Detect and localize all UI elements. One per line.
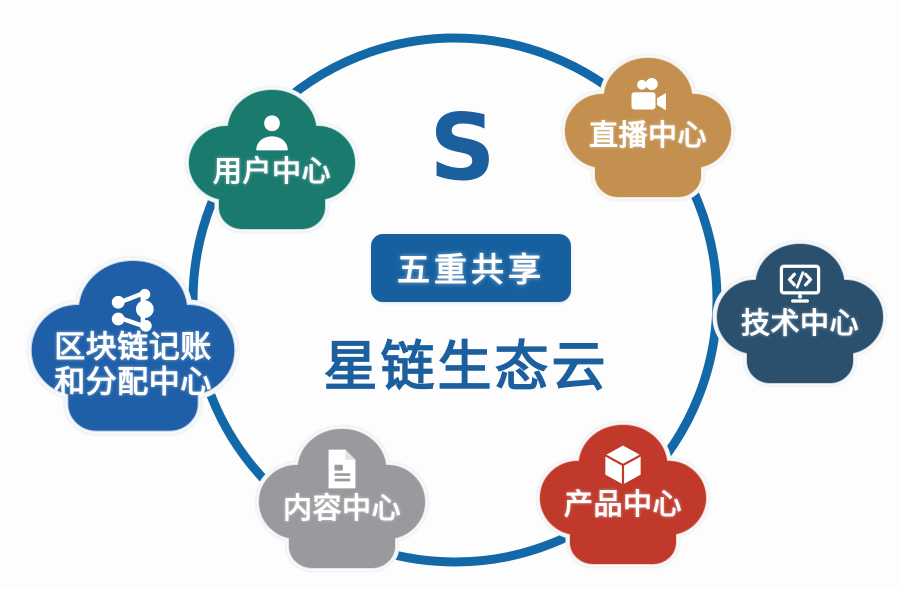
node-live-center[interactable]: 直播中心 — [548, 51, 748, 201]
cloud-shape-tech-center — [700, 237, 900, 387]
node-blockchain-center[interactable]: 区块链记账 和分配中心 — [11, 253, 255, 436]
diagram-canvas: 用户中心直播中心技术中心产品中心内容中心区块链记账 和分配中心 S 五重共享 星… — [0, 0, 900, 589]
cloud-shape-content-center — [242, 422, 442, 572]
cloud-shape-product-center — [523, 418, 723, 568]
cloud-shape-user-center — [172, 83, 372, 233]
node-content-center[interactable]: 内容中心 — [242, 422, 442, 572]
cloud-shape-live-center — [548, 51, 748, 201]
node-user-center[interactable]: 用户中心 — [172, 83, 372, 233]
brand-logo-s: S — [429, 102, 494, 194]
node-tech-center[interactable]: 技术中心 — [700, 237, 900, 387]
page-title: 星链生态云 — [324, 322, 609, 401]
badge-five-fold-sharing: 五重共享 — [371, 234, 571, 302]
node-product-center[interactable]: 产品中心 — [523, 418, 723, 568]
cloud-shape-blockchain-center — [11, 253, 255, 436]
